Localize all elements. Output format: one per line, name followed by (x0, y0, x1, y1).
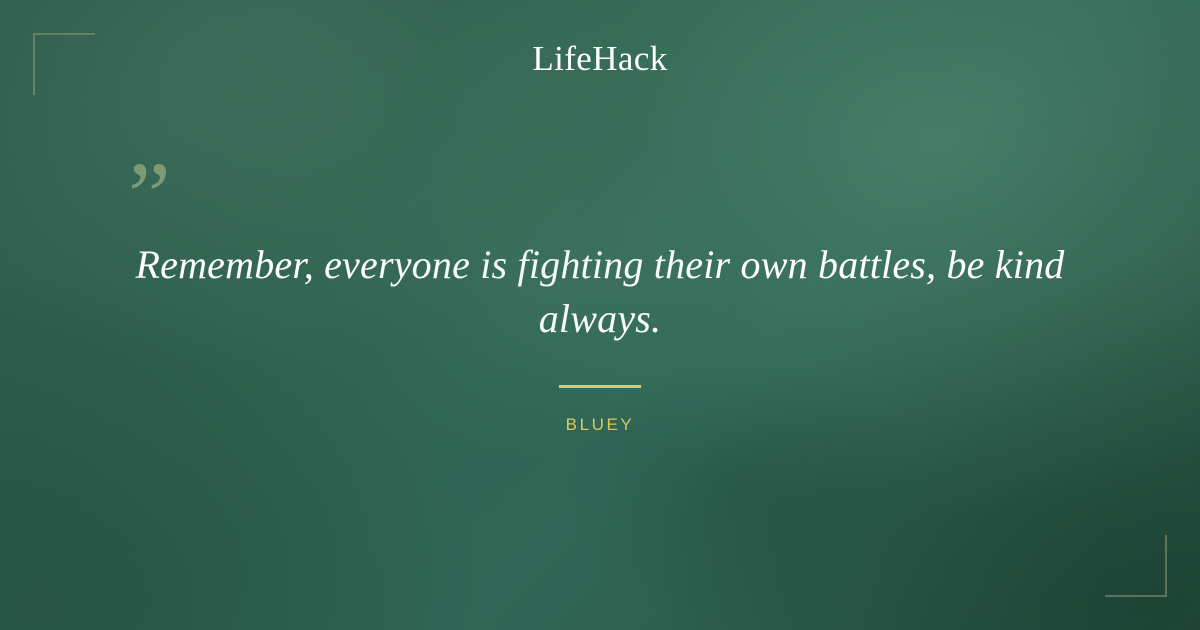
gold-divider (559, 385, 641, 388)
quote-card: LifeHack ” Remember, everyone is fightin… (0, 0, 1200, 630)
corner-bracket-bottom-right-icon (1105, 535, 1167, 597)
quote-author: BLUEY (0, 414, 1200, 436)
quote-text: Remember, everyone is fighting their own… (118, 238, 1082, 346)
brand-logo: LifeHack (0, 40, 1200, 78)
quotation-mark-icon: ” (128, 148, 171, 244)
